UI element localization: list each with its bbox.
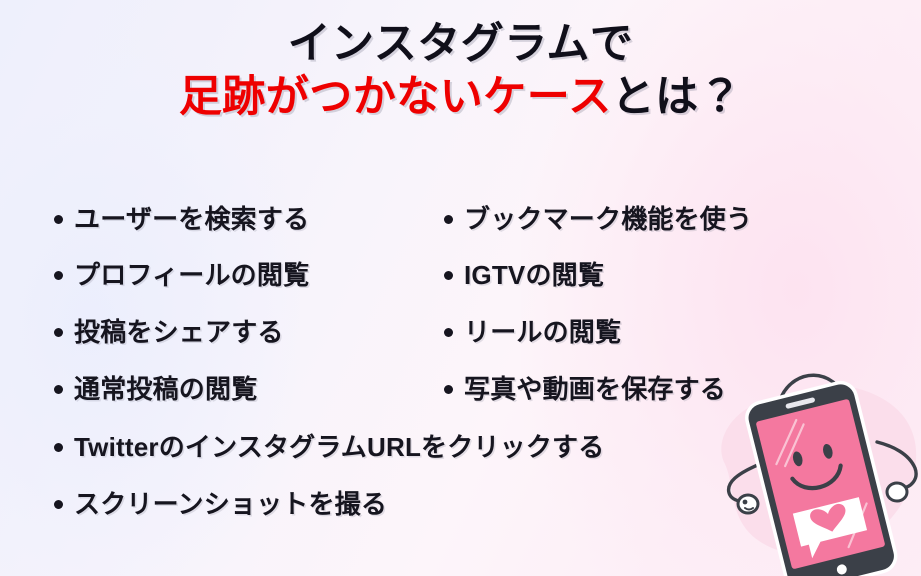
list-item: ブックマーク機能を使う — [444, 204, 752, 234]
list-item: 投稿をシェアする — [54, 317, 284, 347]
list-item-label: 投稿をシェアする — [74, 317, 284, 347]
title-suffix-text: とは？ — [612, 73, 743, 121]
list-item-label: ユーザーを検索する — [74, 204, 309, 234]
page-title: インスタグラムで 足跡がつかないケースとは？ — [0, 18, 921, 124]
list-item: 写真や動画を保存する — [444, 374, 726, 404]
list-item-label: 写真や動画を保存する — [464, 374, 726, 404]
list-item: TwitterのインスタグラムURLをクリックする — [54, 432, 604, 462]
list-item-label: ブックマーク機能を使う — [464, 204, 752, 234]
bullet-dot-icon — [54, 500, 63, 509]
list-item: IGTVの閲覧 — [444, 260, 604, 290]
bullet-dot-icon — [444, 215, 453, 224]
bullet-dot-icon — [54, 215, 63, 224]
list-item: スクリーンショットを撮る — [54, 489, 387, 519]
list-item-label: 通常投稿の閲覧 — [74, 374, 257, 404]
slide-canvas: インスタグラムで 足跡がつかないケースとは？ ユーザーを検索する プロフィールの… — [0, 0, 921, 576]
bullet-dot-icon — [54, 271, 63, 280]
list-item: ユーザーを検索する — [54, 204, 309, 234]
list-item: 通常投稿の閲覧 — [54, 374, 257, 404]
title-highlight-text: 足跡がつかないケース — [179, 73, 612, 121]
title-line-1: インスタグラムで — [0, 18, 921, 71]
list-item-label: プロフィールの閲覧 — [74, 260, 309, 290]
list-item: プロフィールの閲覧 — [54, 260, 309, 290]
list-item-label: リールの閲覧 — [464, 317, 621, 347]
bullet-dot-icon — [54, 328, 63, 337]
bullet-dot-icon — [54, 443, 63, 452]
bullet-dot-icon — [444, 328, 453, 337]
bullet-dot-icon — [444, 385, 453, 394]
bullet-list-zone: ユーザーを検索する プロフィールの閲覧 投稿をシェアする 通常投稿の閲覧 Twi… — [0, 196, 921, 536]
list-item: リールの閲覧 — [444, 317, 621, 347]
list-item-label: スクリーンショットを撮る — [74, 489, 387, 519]
list-item-label: IGTVの閲覧 — [464, 260, 604, 290]
bullet-dot-icon — [444, 271, 453, 280]
bullet-dot-icon — [54, 385, 63, 394]
list-item-label: TwitterのインスタグラムURLをクリックする — [74, 432, 604, 462]
title-line-2: 足跡がつかないケースとは？ — [0, 71, 921, 124]
